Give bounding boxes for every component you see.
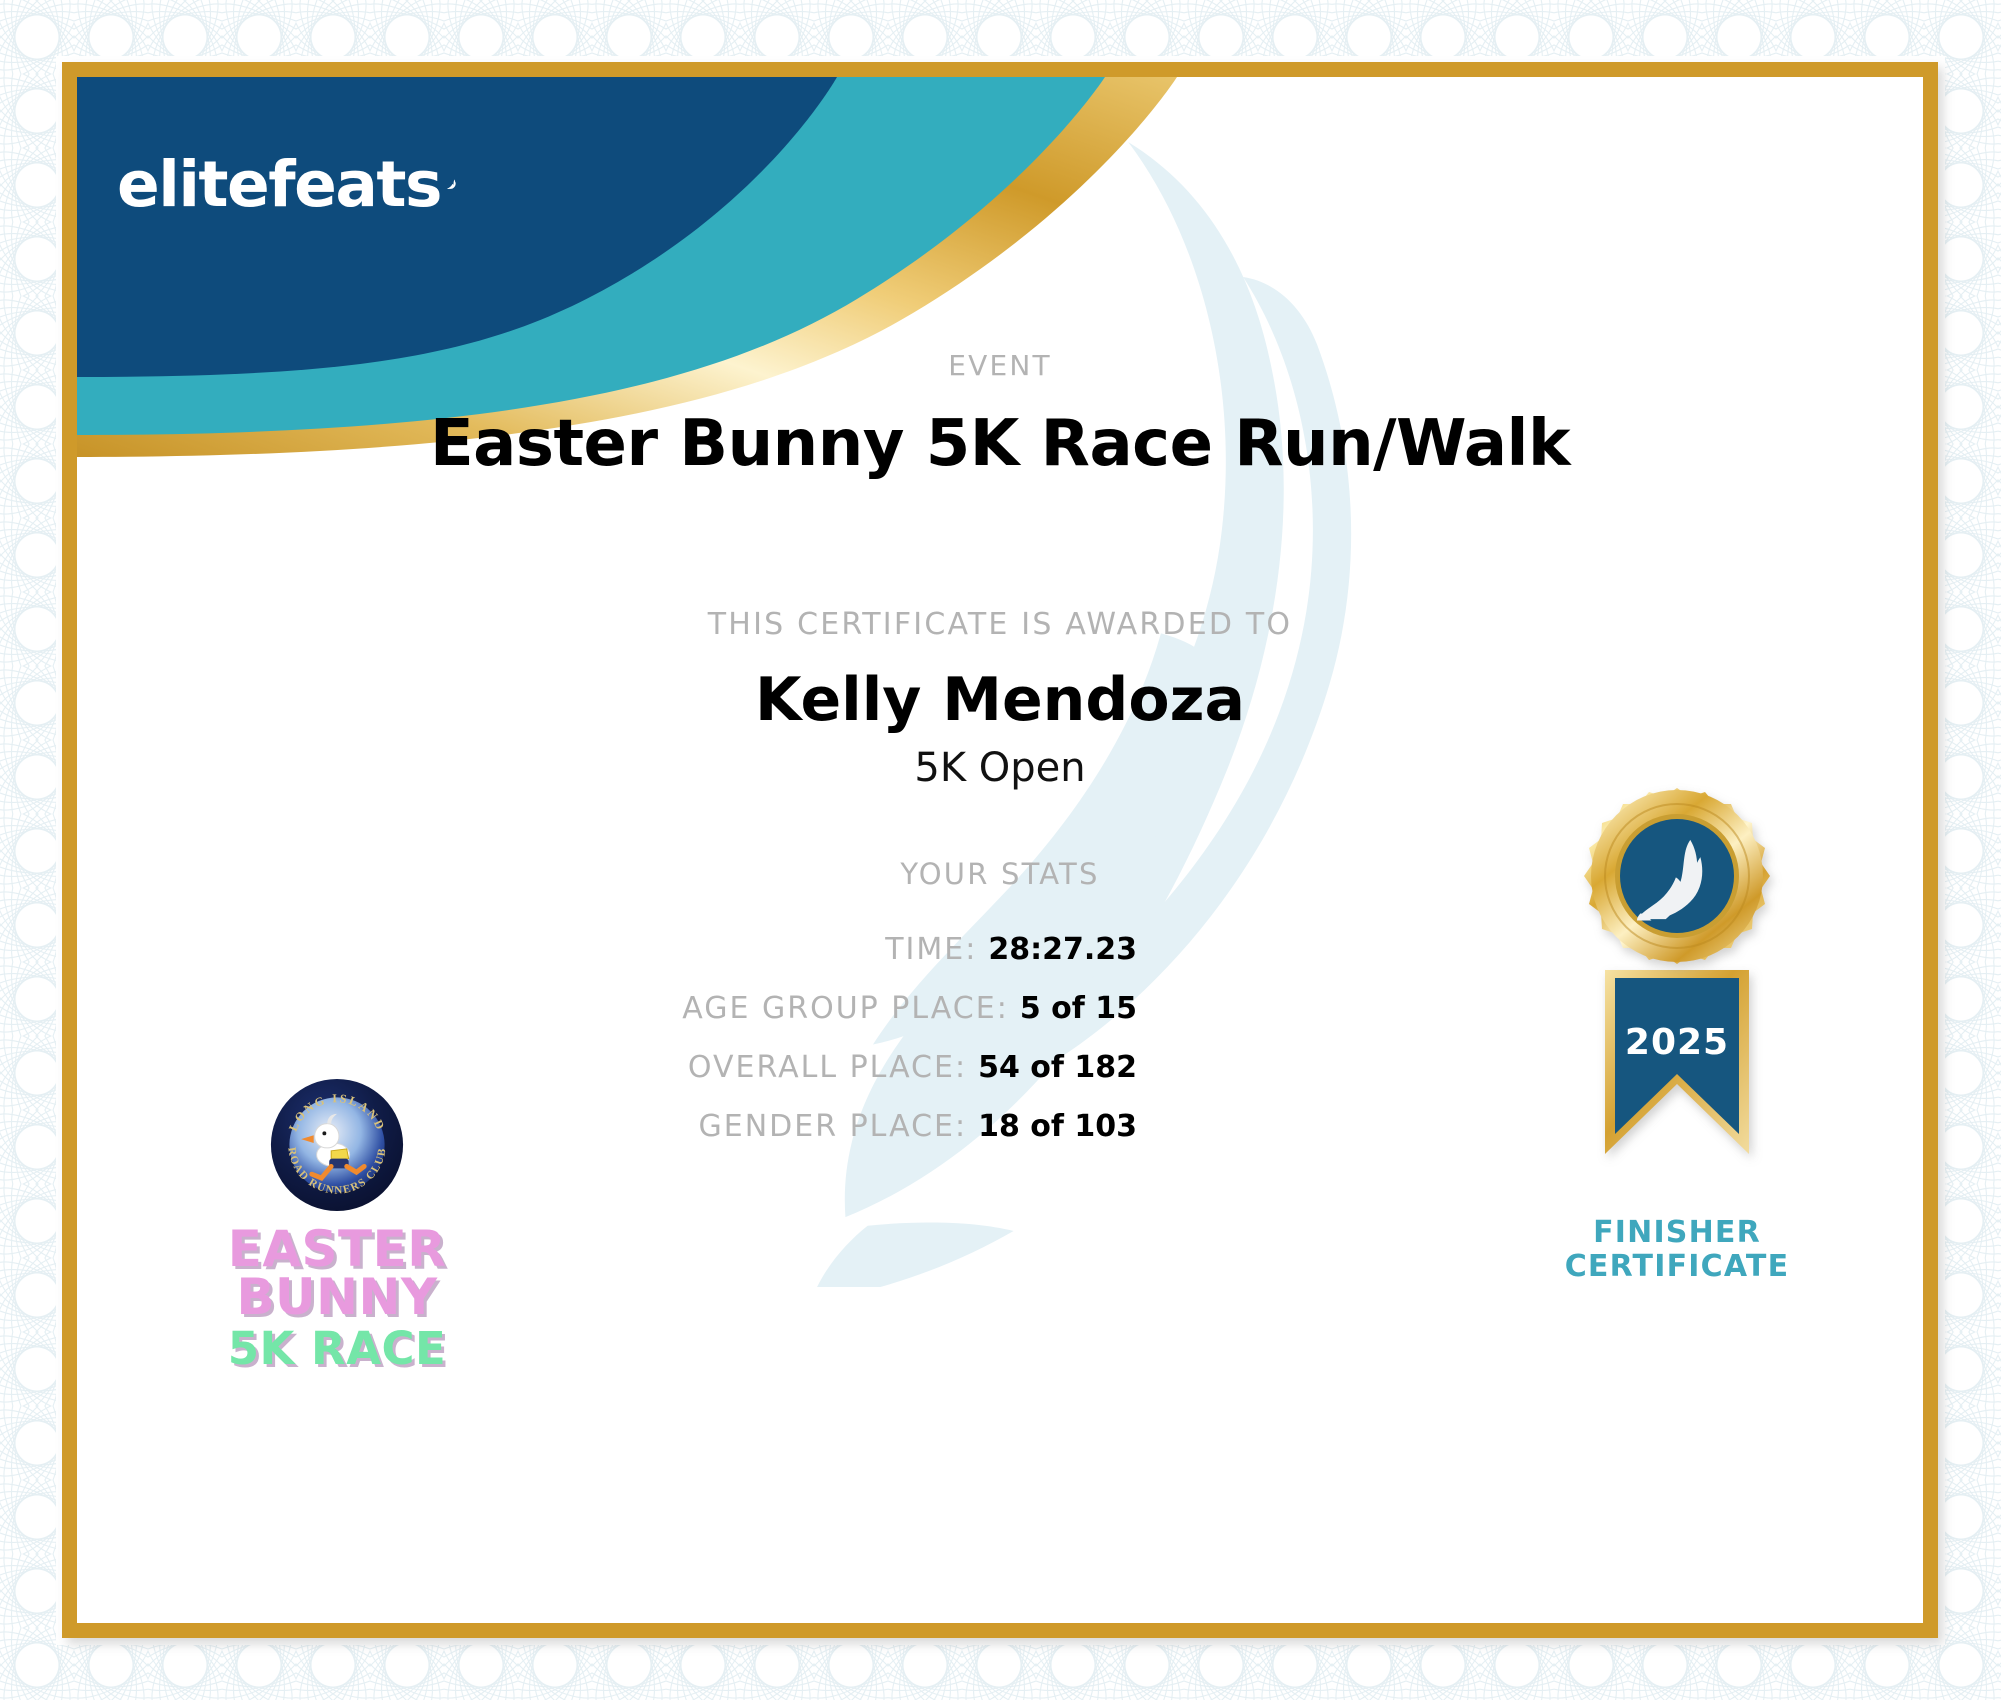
stat-value: 18 of 103 — [978, 1109, 1137, 1144]
event-logo-line1: EASTER — [187, 1225, 487, 1273]
stat-value: 28:27.23 — [988, 932, 1137, 967]
event-name: Easter Bunny 5K Race Run/Walk — [77, 407, 1923, 481]
certificate-page: elitefeats EVENT Easter Bunny 5K Race Ru… — [0, 0, 2001, 1700]
stat-key: GENDER PLACE: — [699, 1109, 968, 1144]
finisher-medal-icon: 2025 — [1527, 782, 1827, 1212]
stats-table: TIME: 28:27.23 AGE GROUP PLACE: 5 of 15 … — [477, 932, 1137, 1168]
medal-caption: FINISHER CERTIFICATE — [1517, 1216, 1837, 1283]
stat-row-time: TIME: 28:27.23 — [477, 932, 1137, 967]
stat-key: TIME: — [885, 932, 977, 967]
finisher-medal-block: 2025 — [1517, 782, 1837, 1283]
medal-year: 2025 — [1625, 1022, 1729, 1063]
medal-rosette — [1571, 788, 1783, 1000]
stat-key: OVERALL PLACE: — [688, 1050, 967, 1085]
event-logo-block: LONG ISLAND ROAD RUNNERS CLUB — [187, 1077, 487, 1371]
event-logo-line2: BUNNY — [187, 1273, 487, 1321]
event-logo-line3: 5K RACE — [187, 1326, 487, 1371]
stat-row-age-group-place: AGE GROUP PLACE: 5 of 15 — [477, 991, 1137, 1026]
medal-caption-line1: FINISHER — [1517, 1216, 1837, 1250]
gold-border-frame: elitefeats EVENT Easter Bunny 5K Race Ru… — [62, 62, 1938, 1638]
stat-key: AGE GROUP PLACE: — [682, 991, 1009, 1026]
event-label: EVENT — [77, 349, 1923, 382]
recipient-name: Kelly Mendoza — [77, 665, 1923, 735]
stat-value: 54 of 182 — [978, 1050, 1137, 1085]
certificate-body: elitefeats EVENT Easter Bunny 5K Race Ru… — [77, 77, 1923, 1623]
medal-caption-line2: CERTIFICATE — [1517, 1250, 1837, 1284]
stat-row-overall-place: OVERALL PLACE: 54 of 182 — [477, 1050, 1137, 1085]
stat-row-gender-place: GENDER PLACE: 18 of 103 — [477, 1109, 1137, 1144]
awarded-to-label: THIS CERTIFICATE IS AWARDED TO — [77, 607, 1923, 642]
long-island-road-runners-club-badge-icon: LONG ISLAND ROAD RUNNERS CLUB — [269, 1077, 405, 1213]
stat-value: 5 of 15 — [1020, 991, 1137, 1026]
